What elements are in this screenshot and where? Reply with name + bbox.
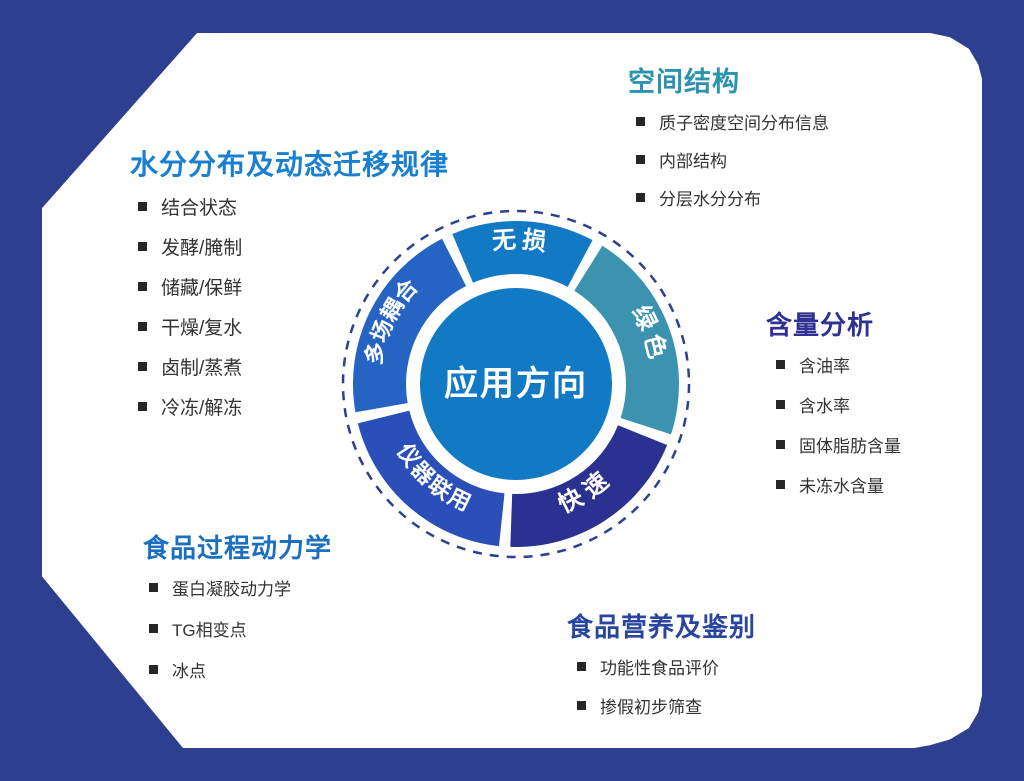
center-label: 应用方向 <box>444 365 588 403</box>
list-item: 分层水分分布 <box>636 185 829 210</box>
list-item-label: 储藏/保鲜 <box>161 273 242 300</box>
section-content-analysis: 含量分析 含油率 含水率 固体脂肪含量 未冻水含量 <box>766 305 901 512</box>
bullet-square-icon <box>636 193 645 202</box>
bullet-square-icon <box>636 155 645 164</box>
bullet-square-icon <box>776 440 785 449</box>
section-content-analysis-title: 含量分析 <box>766 305 901 342</box>
list-item-label: 含水率 <box>799 392 850 417</box>
ring-segment[interactable] <box>452 221 592 287</box>
list-item: 功能性食品评价 <box>577 654 756 679</box>
section-moisture-title: 水分分布及动态迁移规律 <box>130 143 449 183</box>
bullet-square-icon <box>577 701 586 710</box>
bullet-square-icon <box>577 662 586 671</box>
list-item-label: 未冻水含量 <box>799 472 884 497</box>
bullet-square-icon <box>776 360 785 369</box>
list-item: 含油率 <box>776 352 901 377</box>
application-direction-donut: 绿色快速仪器联用多场耦合无损 应用方向 <box>340 208 692 560</box>
list-item-label: 发酵/腌制 <box>161 233 242 260</box>
list-item: 冰点 <box>149 657 332 682</box>
list-item-label: 卤制/蒸煮 <box>161 353 242 380</box>
bullet-square-icon <box>138 242 147 251</box>
list-item: TG相变点 <box>149 616 332 641</box>
list-item-label: 含油率 <box>799 352 850 377</box>
section-spatial-structure-list: 质子密度空间分布信息 内部结构 分层水分分布 <box>628 109 829 210</box>
list-item-label: TG相变点 <box>172 616 247 641</box>
list-item-label: 冰点 <box>172 657 206 682</box>
bullet-square-icon <box>149 624 158 633</box>
section-spatial-structure-title: 空间结构 <box>628 60 829 99</box>
section-content-analysis-list: 含油率 含水率 固体脂肪含量 未冻水含量 <box>766 352 901 497</box>
list-item: 固体脂肪含量 <box>776 432 901 457</box>
list-item: 含水率 <box>776 392 901 417</box>
infographic-canvas: 水分分布及动态迁移规律 结合状态 发酵/腌制 储藏/保鲜 干燥/复水 卤制/蒸煮… <box>0 0 1024 781</box>
bullet-square-icon <box>138 202 147 211</box>
list-item: 内部结构 <box>636 147 829 172</box>
bullet-square-icon <box>138 322 147 331</box>
list-item: 蛋白凝胶动力学 <box>149 575 332 600</box>
list-item: 掺假初步筛查 <box>577 693 756 718</box>
list-item-label: 冷冻/解冻 <box>161 393 242 420</box>
list-item-label: 掺假初步筛查 <box>600 693 702 718</box>
list-item-label: 内部结构 <box>659 147 727 172</box>
section-process-kinetics: 食品过程动力学 蛋白凝胶动力学 TG相变点 冰点 <box>143 528 332 698</box>
bullet-square-icon <box>149 665 158 674</box>
list-item-label: 质子密度空间分布信息 <box>659 109 829 134</box>
section-nutrition-identification: 食品营养及鉴别 功能性食品评价 掺假初步筛查 <box>567 607 756 732</box>
bullet-square-icon <box>636 117 645 126</box>
bullet-square-icon <box>776 480 785 489</box>
bullet-square-icon <box>776 400 785 409</box>
section-process-kinetics-list: 蛋白凝胶动力学 TG相变点 冰点 <box>143 575 332 682</box>
list-item: 质子密度空间分布信息 <box>636 109 829 134</box>
list-item-label: 结合状态 <box>161 193 237 220</box>
list-item-label: 固体脂肪含量 <box>799 432 901 457</box>
bullet-square-icon <box>149 583 158 592</box>
list-item-label: 蛋白凝胶动力学 <box>172 575 291 600</box>
list-item: 未冻水含量 <box>776 472 901 497</box>
section-process-kinetics-title: 食品过程动力学 <box>143 528 332 565</box>
section-nutrition-identification-list: 功能性食品评价 掺假初步筛查 <box>567 654 756 718</box>
list-item-label: 干燥/复水 <box>161 313 242 340</box>
bullet-square-icon <box>138 362 147 371</box>
section-spatial-structure: 空间结构 质子密度空间分布信息 内部结构 分层水分分布 <box>628 60 829 223</box>
list-item-label: 功能性食品评价 <box>600 654 719 679</box>
bullet-square-icon <box>138 402 147 411</box>
bullet-square-icon <box>138 282 147 291</box>
section-nutrition-identification-title: 食品营养及鉴别 <box>567 607 756 644</box>
list-item-label: 分层水分分布 <box>659 185 761 210</box>
